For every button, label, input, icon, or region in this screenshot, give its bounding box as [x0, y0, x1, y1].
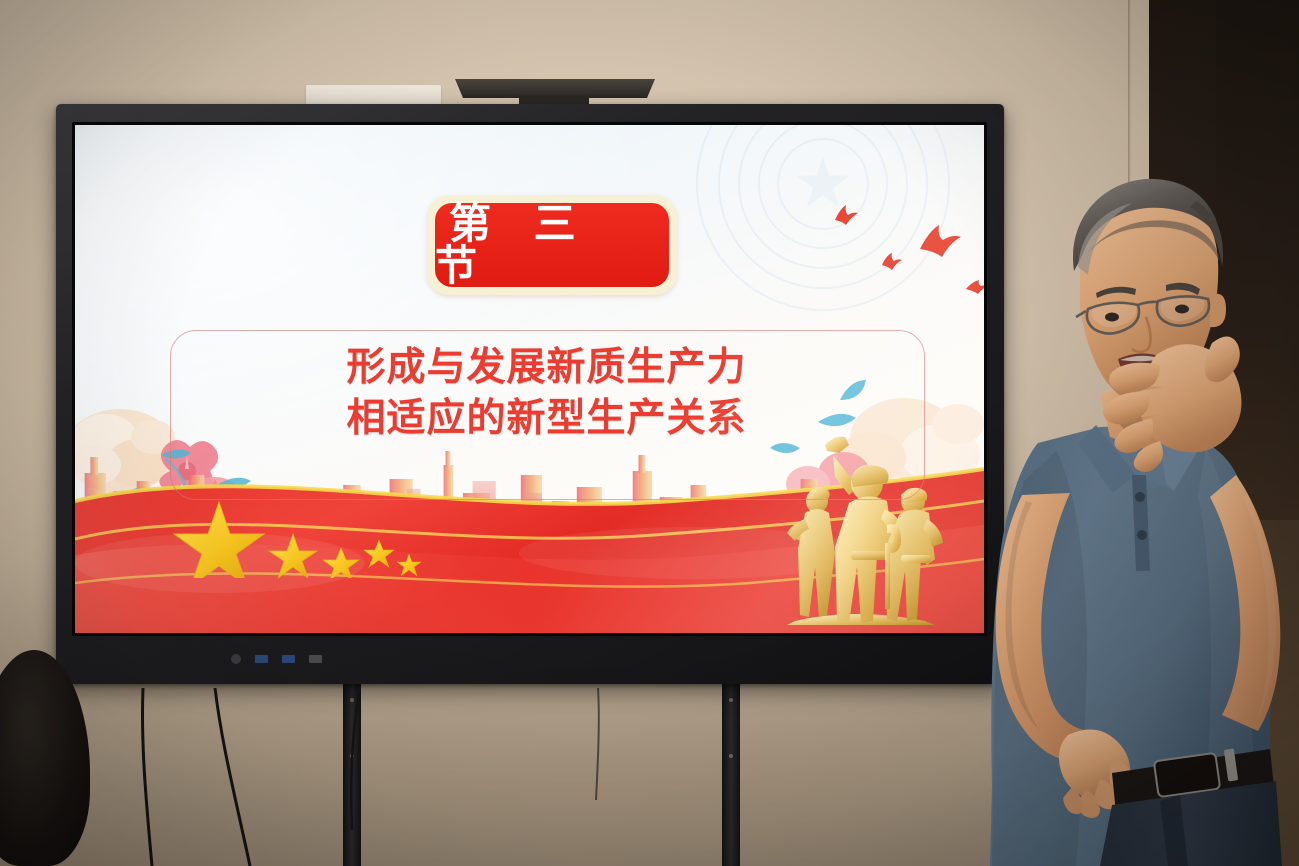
photo-scene: 第 三 节 形成与发展新质生产力 相适应的新型生产关系 — [0, 0, 1299, 866]
section-badge: 第 三 节 — [427, 195, 677, 295]
flag-stars — [171, 498, 431, 578]
display-inner-bezel: 第 三 节 形成与发展新质生产力 相适应的新型生产关系 — [72, 122, 987, 636]
presenter — [960, 175, 1299, 866]
hdmi-port-icon[interactable] — [309, 655, 322, 663]
power-port-icon[interactable] — [231, 654, 241, 664]
display-panel[interactable]: 第 三 节 形成与发展新质生产力 相适应的新型生产关系 — [56, 104, 1004, 684]
usb-port-icon[interactable] — [282, 655, 295, 663]
port-strip[interactable] — [231, 654, 322, 664]
dove-icon — [881, 252, 903, 271]
dove-icon — [918, 223, 962, 259]
stand-leg-left — [343, 684, 361, 866]
usb-port-icon[interactable] — [255, 655, 268, 663]
slide-headline: 形成与发展新质生产力 相适应的新型生产关系 — [170, 343, 923, 444]
headline-line-2: 相适应的新型生产关系 — [170, 394, 923, 445]
star-watermark-icon — [698, 125, 948, 309]
badge-fill: 第 三 节 — [435, 203, 669, 287]
headline-line-1: 形成与发展新质生产力 — [170, 343, 923, 394]
display-screen[interactable]: 第 三 节 形成与发展新质生产力 相适应的新型生产关系 — [75, 125, 984, 633]
stand-leg-right — [722, 684, 740, 866]
badge-label: 第 三 节 — [435, 203, 669, 287]
dove-icon — [833, 204, 859, 226]
presentation-slide: 第 三 节 形成与发展新质生产力 相适应的新型生产关系 — [75, 125, 984, 633]
